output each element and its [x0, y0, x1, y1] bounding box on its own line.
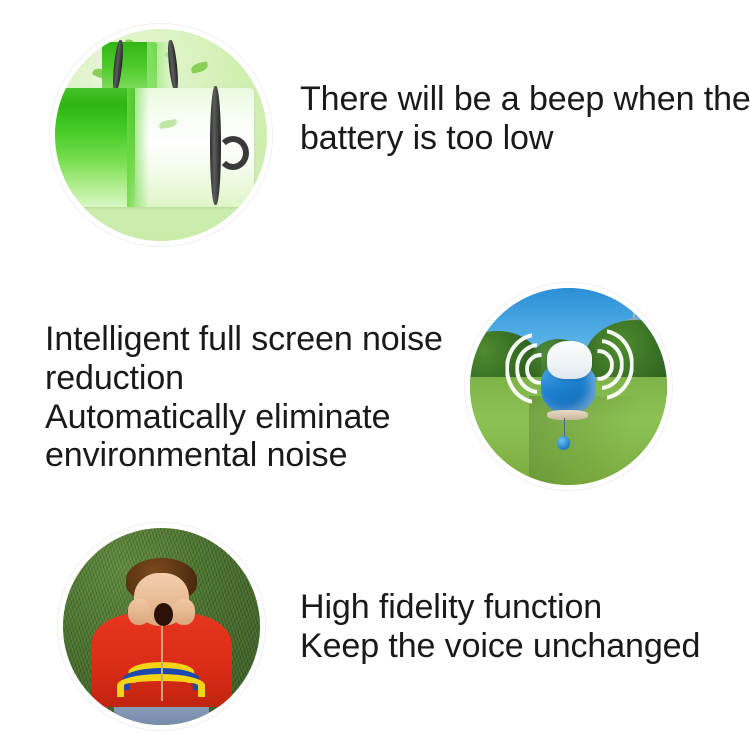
feature-caption-high-fidelity: High fidelity function Keep the voice un… [300, 588, 720, 666]
feature-caption-battery-low-beep: There will be a beep when the battery is… [300, 80, 750, 158]
ringing-bell-outdoors-photo [470, 288, 667, 485]
feature-image-battery-low-beep [50, 24, 272, 246]
product-feature-infographic: There will be a beep when the battery is… [0, 0, 750, 750]
feature-image-high-fidelity [58, 523, 265, 730]
bell-clapper [557, 436, 571, 450]
feature-caption-noise-reduction: Intelligent full screen noise reduction … [45, 320, 465, 475]
leaf-icon [190, 61, 208, 73]
bell-string [564, 418, 566, 438]
battery-charge-bar [55, 88, 135, 207]
man-shouting-on-grass-photo [63, 528, 260, 725]
jacket-zipper [161, 623, 164, 702]
battery-clip [210, 86, 221, 205]
battery-charge-level-photo [55, 29, 267, 241]
feature-image-noise-reduction [465, 283, 672, 490]
hand [128, 599, 150, 625]
bell-cap [547, 341, 592, 378]
hand [173, 599, 195, 625]
bell-base [547, 410, 588, 420]
